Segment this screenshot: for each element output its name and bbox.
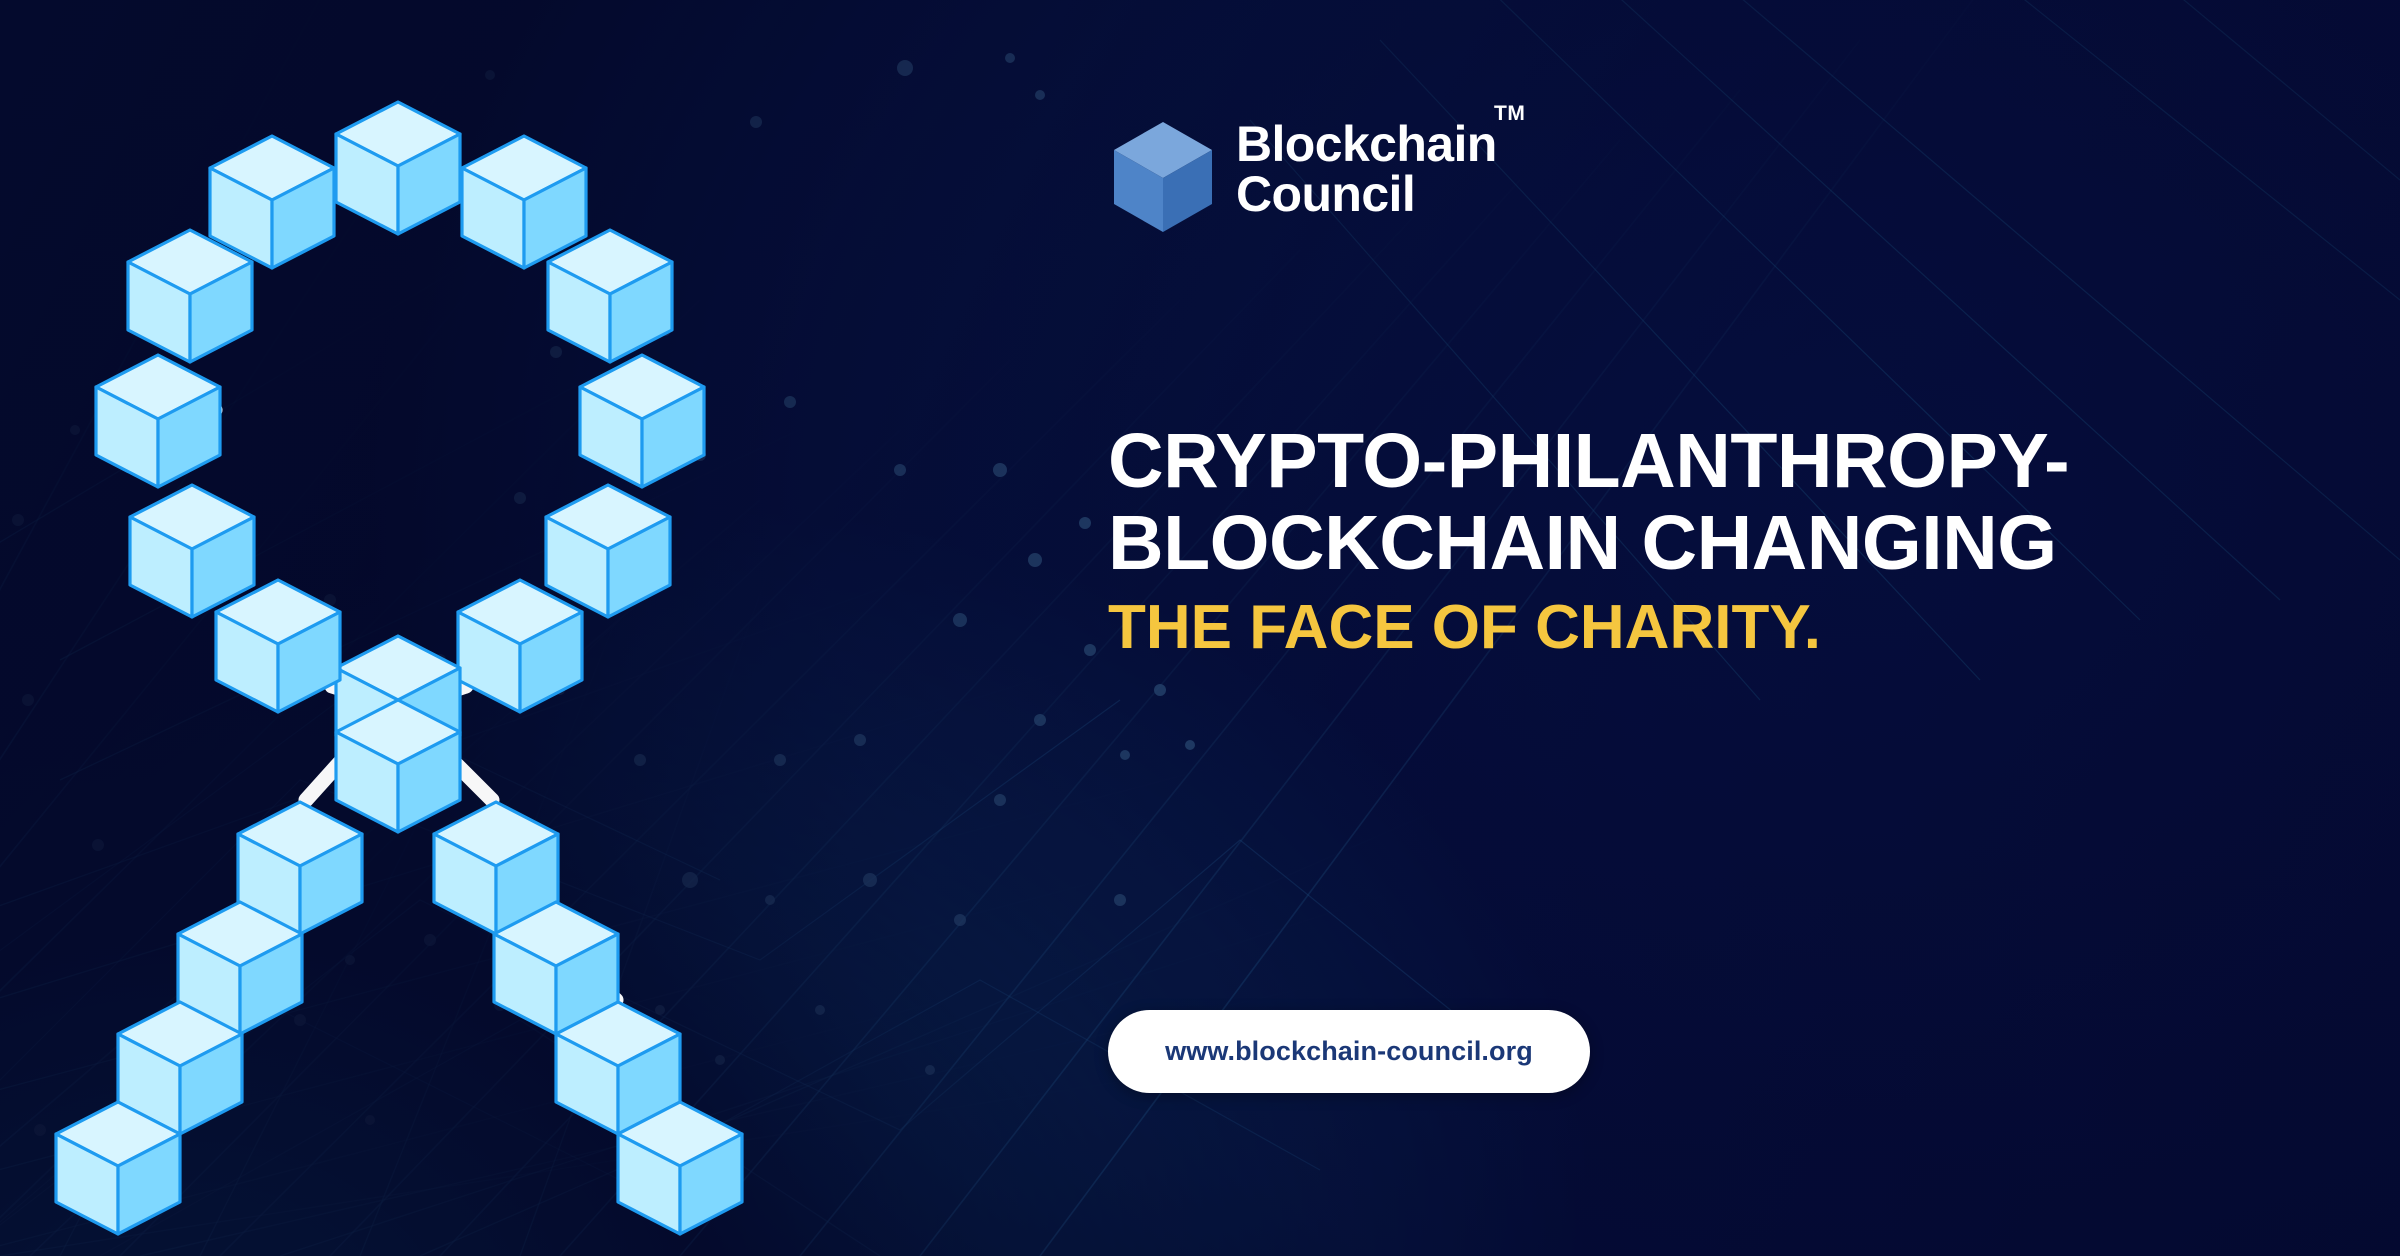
ribbon-cube: [336, 102, 460, 234]
content-column: Blockchain Council TM CRYPTO-PHILANTHROP…: [1108, 0, 2308, 1256]
website-url-button[interactable]: www.blockchain-council.org: [1108, 1010, 1590, 1093]
brand-wordmark: Blockchain Council TM: [1236, 118, 1497, 219]
promo-banner: Blockchain Council TM CRYPTO-PHILANTHROP…: [0, 0, 2400, 1256]
headline-line-1: CRYPTO-PHILANTHROPY-: [1108, 420, 2288, 502]
brand-line-1: Blockchain: [1236, 120, 1497, 170]
brand-line-2: Council: [1236, 170, 1497, 220]
ribbon-cube: [546, 485, 670, 617]
website-url-label: www.blockchain-council.org: [1165, 1036, 1533, 1067]
ribbon-cube: [462, 136, 586, 268]
ribbon-cube: [580, 355, 704, 487]
headline-block: CRYPTO-PHILANTHROPY- BLOCKCHAIN CHANGING…: [1108, 420, 2288, 660]
ribbon-cube: [458, 580, 582, 712]
ribbon-cube: [216, 580, 340, 712]
ribbon-cube: [96, 355, 220, 487]
ribbon-cube: [130, 485, 254, 617]
cube-icon: [1108, 118, 1218, 236]
headline-line-2: BLOCKCHAIN CHANGING: [1108, 502, 2288, 584]
brand-logo: Blockchain Council TM: [1108, 118, 1497, 236]
ribbon-cube: [548, 230, 672, 362]
trademark-mark: TM: [1494, 102, 1525, 126]
headline-subline: THE FACE OF CHARITY.: [1108, 595, 2288, 660]
blockchain-ribbon-graphic: [0, 0, 1100, 1256]
